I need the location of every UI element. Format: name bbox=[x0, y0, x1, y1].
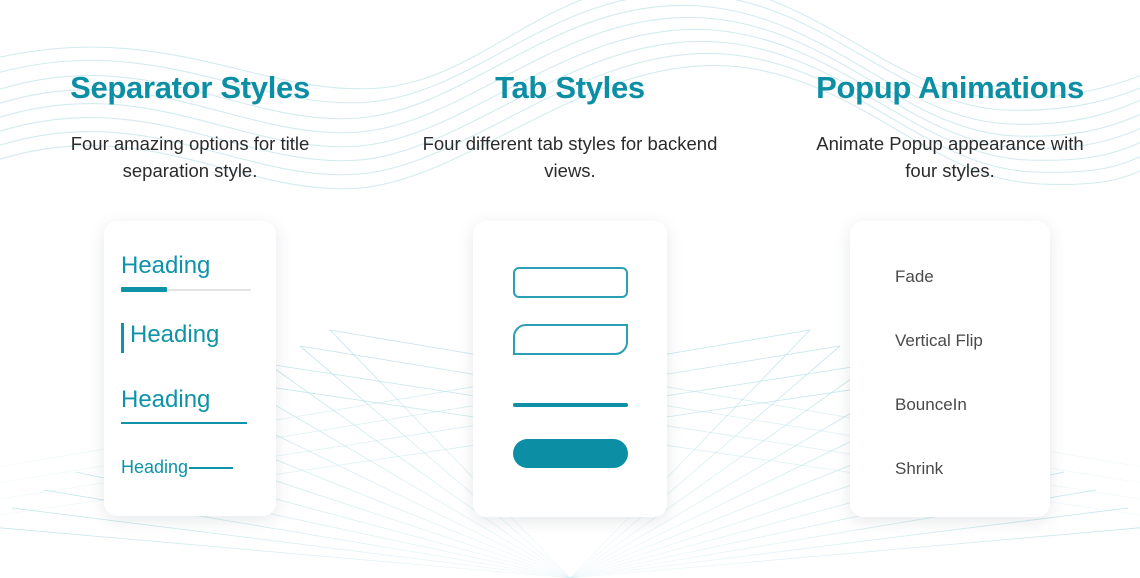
separator-rule-underline bbox=[121, 422, 247, 424]
list-item-vertical-flip[interactable]: Vertical Flip bbox=[895, 332, 1050, 349]
column-popup-animations: Popup Animations Animate Popup appearanc… bbox=[760, 0, 1140, 578]
page-title-popup-animations: Popup Animations bbox=[816, 72, 1084, 103]
page-title-tab-styles: Tab Styles bbox=[495, 72, 645, 103]
popup-animation-card: Fade Vertical Flip BounceIn Shrink bbox=[850, 221, 1050, 517]
page-title-separator-styles: Separator Styles bbox=[70, 72, 310, 103]
subtitle-tab-styles: Four different tab styles for backend vi… bbox=[420, 131, 720, 185]
tab-style-diagonal-rounded-outline[interactable] bbox=[513, 324, 628, 355]
tab-preview-card bbox=[473, 221, 667, 517]
separator-vertical-bar bbox=[121, 323, 124, 353]
feature-columns: Separator Styles Four amazing options fo… bbox=[0, 0, 1140, 578]
list-item-bouncein[interactable]: BounceIn bbox=[895, 396, 1050, 413]
tab-style-filled-pill[interactable] bbox=[513, 439, 628, 468]
column-separator-styles: Separator Styles Four amazing options fo… bbox=[0, 0, 380, 578]
separator-style-accent-bar[interactable]: Heading bbox=[121, 253, 251, 279]
separator-rule-accent bbox=[121, 287, 167, 292]
separator-style-vertical-bar[interactable]: Heading bbox=[121, 322, 251, 348]
tab-style-list bbox=[473, 221, 667, 468]
separator-style-underline[interactable]: Heading bbox=[121, 387, 251, 413]
separator-label: Heading bbox=[121, 387, 251, 413]
separator-label: Heading bbox=[121, 322, 251, 348]
separator-preview-card: Heading Heading Heading Heading bbox=[104, 221, 276, 516]
separator-label: Heading bbox=[121, 458, 188, 477]
popup-animation-list: Fade Vertical Flip BounceIn Shrink bbox=[850, 221, 1050, 477]
list-item-shrink[interactable]: Shrink bbox=[895, 460, 1050, 477]
tab-style-rounded-rect-outline[interactable] bbox=[513, 267, 628, 298]
separator-label: Heading bbox=[121, 253, 251, 279]
separator-style-trailing-line[interactable]: Heading bbox=[121, 458, 251, 477]
subtitle-separator-styles: Four amazing options for title separatio… bbox=[40, 131, 340, 185]
tab-style-underline-bar[interactable] bbox=[513, 403, 628, 407]
subtitle-popup-animations: Animate Popup appearance with four style… bbox=[800, 131, 1100, 185]
separator-rule-trailing bbox=[189, 467, 233, 469]
column-tab-styles: Tab Styles Four different tab styles for… bbox=[380, 0, 760, 578]
list-item-fade[interactable]: Fade bbox=[895, 268, 1050, 285]
